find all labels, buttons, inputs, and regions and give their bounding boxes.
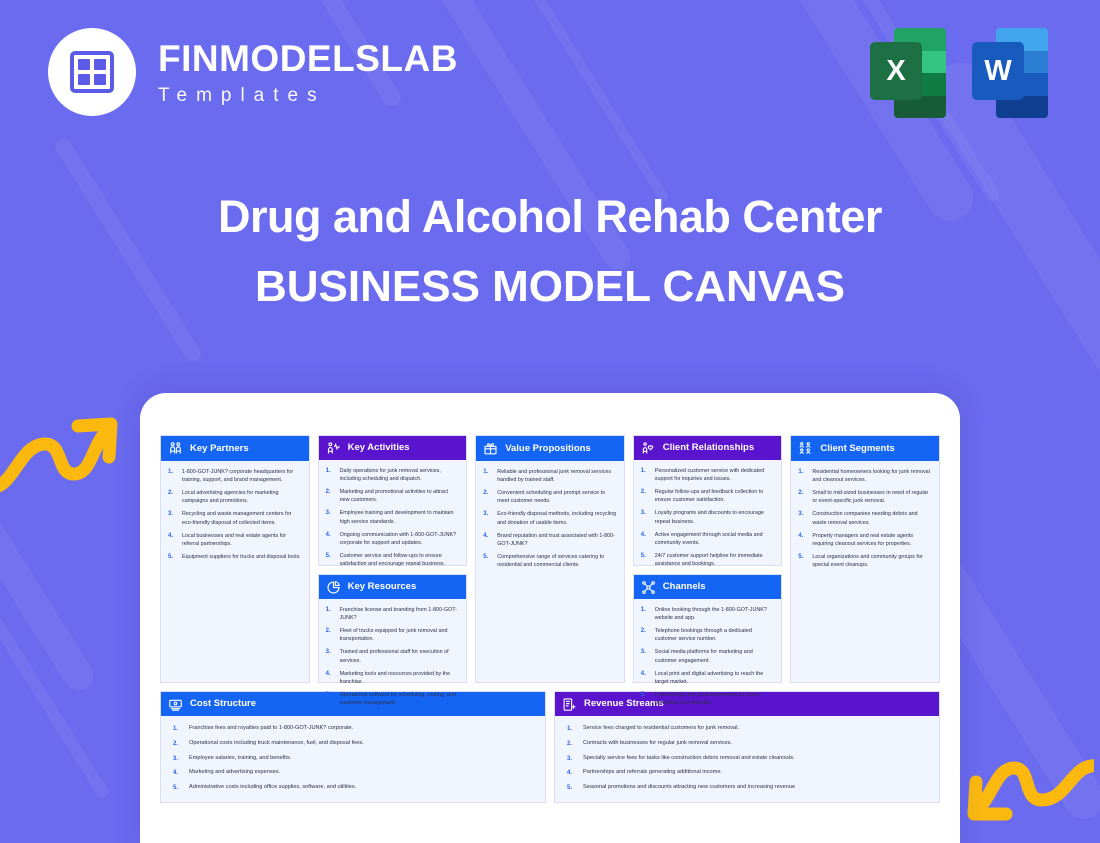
list-item: Brand reputation and trust associated wi… [482, 532, 617, 548]
list-item: Recycling and waste management centers f… [167, 510, 302, 526]
list-item: Operational software for scheduling, rou… [325, 691, 460, 707]
block-title: Client Segments [820, 443, 894, 455]
list-item: Employee training and development to mai… [325, 509, 460, 525]
list-item: Ongoing communication with 1-800-GOT-JUN… [325, 531, 460, 547]
block-title: Client Relationships [663, 442, 754, 454]
list-item: Online booking through the 1-800-GOT-JUN… [640, 606, 775, 622]
canvas-block-key-resources[interactable]: Key Resources Franchise license and bran… [318, 574, 468, 683]
list-item: Franchise license and branding from 1-80… [325, 606, 460, 622]
list-item: Daily operations for junk removal servic… [325, 467, 460, 483]
list-item: Social media platforms for marketing and… [640, 648, 775, 664]
list-item: Residential homeowners looking for junk … [797, 468, 932, 484]
canvas-top-grid: Key Partners 1-800-GOT-JUNK? corporate h… [160, 435, 940, 683]
person-activity-icon [326, 441, 341, 456]
network-nodes-icon [641, 580, 656, 595]
list-item: Trained and professional staff for execu… [325, 648, 460, 664]
canvas-block-value-propositions[interactable]: Value Propositions Reliable and professi… [475, 435, 625, 683]
list-item: Telephone bookings through a dedicated c… [640, 627, 775, 643]
brand-subtitle: Templates [158, 86, 458, 105]
canvas-bottom-grid: Cost Structure Franchise fees and royalt… [160, 691, 940, 803]
canvas-block-channels[interactable]: Channels Online booking through the 1-80… [633, 574, 783, 683]
block-title: Value Propositions [505, 443, 591, 455]
list-item: Property managers and real estate agents… [797, 532, 932, 548]
canvas-block-key-partners[interactable]: Key Partners 1-800-GOT-JUNK? corporate h… [160, 435, 310, 683]
block-header: Key Partners [161, 436, 309, 461]
page-header: FINMODELSLAB Templates X W [0, 0, 1100, 150]
list-item: Personalized customer service with dedic… [640, 467, 775, 483]
list-item: Small to mid-sized businesses in need of… [797, 489, 932, 505]
grid-logo-icon [48, 28, 136, 116]
block-items-list: Daily operations for junk removal servic… [325, 467, 460, 568]
excel-icon: X [870, 28, 946, 118]
block-header: Client Segments [791, 436, 939, 461]
list-item: Convenient scheduling and prompt service… [482, 489, 617, 505]
list-item: Customer service and follow-ups to ensur… [325, 552, 460, 568]
list-item: Employee salaries, training, and benefit… [169, 755, 535, 763]
page-title: Drug and Alcohol Rehab Center [0, 190, 1100, 244]
list-item: Partnerships and referrals generating ad… [563, 769, 929, 777]
block-items-list: Reliable and professional junk removal s… [482, 468, 617, 569]
list-item: Seasonal promotions and discounts attrac… [563, 784, 929, 792]
block-title: Cost Structure [190, 698, 256, 710]
list-item: Operational costs including truck mainte… [169, 740, 535, 748]
two-people-icon [168, 441, 183, 456]
block-header: Client Relationships [634, 436, 782, 460]
list-item: Comprehensive range of services catering… [482, 553, 617, 569]
tablet-device-frame: Key Partners 1-800-GOT-JUNK? corporate h… [140, 393, 960, 843]
block-title: Key Resources [348, 581, 417, 593]
canvas-block-key-activities[interactable]: Key Activities Daily operations for junk… [318, 435, 468, 566]
gift-icon [483, 441, 498, 456]
block-items-list: Residential homeowners looking for junk … [797, 468, 932, 569]
word-icon: W [972, 28, 1048, 118]
block-header: Channels [634, 575, 782, 599]
list-item: Fleet of trucks equipped for junk remova… [325, 627, 460, 643]
list-item: Service fees charged to residential cust… [563, 725, 929, 733]
canvas-block-client-segments[interactable]: Client Segments Residential homeowners l… [790, 435, 940, 683]
revenue-chart-icon [562, 697, 577, 712]
block-items-list: 1-800-GOT-JUNK? corporate headquarters f… [167, 468, 302, 561]
list-item: Marketing and promotional activities to … [325, 488, 460, 504]
squiggle-arrow-up-right-icon [0, 404, 120, 496]
person-heart-icon [641, 441, 656, 456]
list-item: 1-800-GOT-JUNK? corporate headquarters f… [167, 468, 302, 484]
list-item: Local print and digital advertising to r… [640, 670, 775, 686]
people-group-icon [798, 441, 813, 456]
canvas-block-cost-structure[interactable]: Cost Structure Franchise fees and royalt… [160, 691, 546, 803]
money-bill-icon [168, 697, 183, 712]
brand-name: FINMODELSLAB [158, 40, 458, 77]
block-header: Key Activities [319, 436, 467, 460]
block-title: Key Activities [348, 442, 410, 454]
block-header: Value Propositions [476, 436, 624, 461]
list-item: 24/7 customer support helpline for immed… [640, 552, 775, 568]
canvas-block-revenue-streams[interactable]: Revenue Streams Service fees charged to … [554, 691, 940, 803]
list-item: Reliable and professional junk removal s… [482, 468, 617, 484]
list-item: Eco-friendly disposal methods, including… [482, 510, 617, 526]
block-items-list: Franchise license and branding from 1-80… [325, 606, 460, 707]
block-items-list: Online booking through the 1-800-GOT-JUN… [640, 606, 775, 707]
list-item: Administrative costs including office su… [169, 784, 535, 792]
block-title: Channels [663, 581, 706, 593]
page-subtitle: BUSINESS MODEL CANVAS [0, 262, 1100, 312]
list-item: Construction companies needing debris an… [797, 510, 932, 526]
office-format-icons: X W [870, 28, 1048, 118]
block-items-list: Franchise fees and royalties paid to 1-8… [169, 725, 535, 792]
excel-icon-letter: X [870, 42, 922, 100]
word-icon-letter: W [972, 42, 1024, 100]
list-item: Loyalty programs and discounts to encour… [640, 509, 775, 525]
list-item: Marketing and advertising expenses. [169, 769, 535, 777]
list-item: Local organizations and community groups… [797, 553, 932, 569]
list-item: Equipment suppliers for trucks and dispo… [167, 553, 302, 561]
list-item: Franchise fees and royalties paid to 1-8… [169, 725, 535, 733]
list-item: Local businesses and real estate agents … [167, 532, 302, 548]
block-items-list: Personalized customer service with dedic… [640, 467, 775, 568]
list-item: Active engagement through social media a… [640, 531, 775, 547]
block-header: Key Resources [319, 575, 467, 599]
title-group: Drug and Alcohol Rehab Center BUSINESS M… [0, 190, 1100, 312]
business-model-canvas: Key Partners 1-800-GOT-JUNK? corporate h… [160, 435, 940, 803]
list-item: Marketing tools and resources provided b… [325, 670, 460, 686]
list-item: Regular follow-ups and feedback collecti… [640, 488, 775, 504]
list-item: Specialty service fees for tasks like co… [563, 755, 929, 763]
list-item: Local advertising agencies for marketing… [167, 489, 302, 505]
canvas-block-client-relationships[interactable]: Client Relationships Personalized custom… [633, 435, 783, 566]
brand-logo: FINMODELSLAB Templates [48, 28, 458, 116]
squiggle-arrow-down-left-icon [960, 742, 1094, 838]
list-item: Contracts with businesses for regular ju… [563, 740, 929, 748]
list-item: Partnerships with local businesses for c… [640, 691, 775, 707]
block-title: Key Partners [190, 443, 249, 455]
pie-chart-icon [326, 580, 341, 595]
block-items-list: Service fees charged to residential cust… [563, 725, 929, 792]
